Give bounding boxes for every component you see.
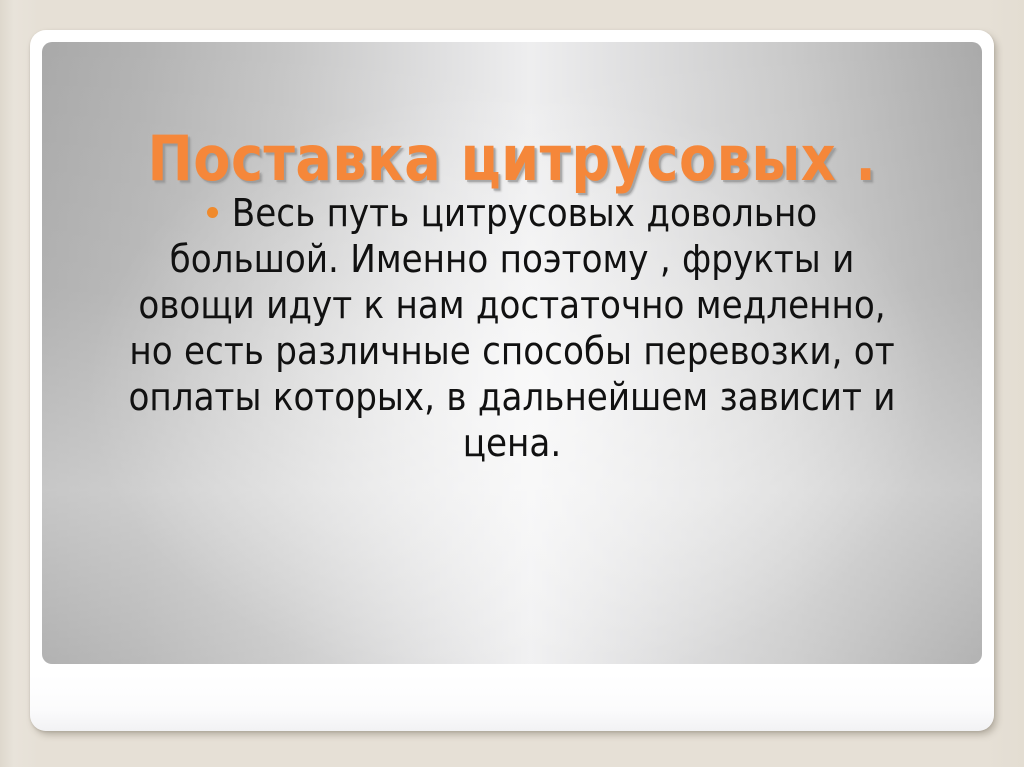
- slide-gray-content-panel: Поставка цитрусовых . Весь путь цитрусов…: [42, 42, 982, 664]
- bulleted-paragraph: Весь путь цитрусовых довольно большой. И…: [128, 190, 896, 466]
- body-text-block: Весь путь цитрусовых довольно большой. И…: [128, 190, 896, 466]
- slide-canvas: Поставка цитрусовых . Весь путь цитрусов…: [0, 0, 1024, 767]
- bullet-dot-icon: [207, 207, 218, 218]
- slide-white-frame: Поставка цитрусовых . Весь путь цитрусов…: [30, 30, 994, 731]
- slide-content-area: Поставка цитрусовых . Весь путь цитрусов…: [42, 42, 982, 664]
- body-paragraph-text: Весь путь цитрусовых довольно большой. И…: [128, 191, 895, 465]
- page-title: Поставка цитрусовых .: [56, 126, 968, 191]
